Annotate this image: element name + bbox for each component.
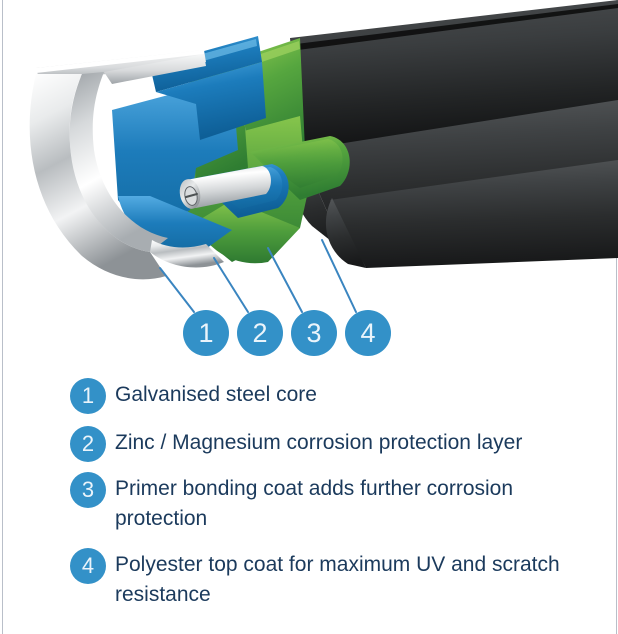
- legend-label-1: Galvanised steel core: [115, 378, 317, 410]
- legend-badge-3: 3: [70, 472, 106, 508]
- legend-item-4[interactable]: 4 Polyester top coat for maximum UV and …: [0, 548, 618, 610]
- callout-badge-3[interactable]: 3: [291, 310, 337, 356]
- legend-label-2: Zinc / Magnesium corrosion protection la…: [115, 426, 522, 458]
- callout-badge-2[interactable]: 2: [237, 310, 283, 356]
- legend-item-2[interactable]: 2 Zinc / Magnesium corrosion protection …: [0, 426, 618, 462]
- callout-badge-1[interactable]: 1: [183, 310, 229, 356]
- callout-badge-4[interactable]: 4: [345, 310, 391, 356]
- legend-badge-1: 1: [70, 378, 106, 414]
- legend-label-4: Polyester top coat for maximum UV and sc…: [115, 548, 585, 610]
- legend-label-3: Primer bonding coat adds further corrosi…: [115, 472, 585, 534]
- legend-badge-2: 2: [70, 426, 106, 462]
- legend-badge-4: 4: [70, 548, 106, 584]
- legend-list: 1 Galvanised steel core 2 Zinc / Magnesi…: [0, 378, 618, 616]
- legend-item-3[interactable]: 3 Primer bonding coat adds further corro…: [0, 472, 618, 534]
- legend-item-1[interactable]: 1 Galvanised steel core: [0, 378, 618, 414]
